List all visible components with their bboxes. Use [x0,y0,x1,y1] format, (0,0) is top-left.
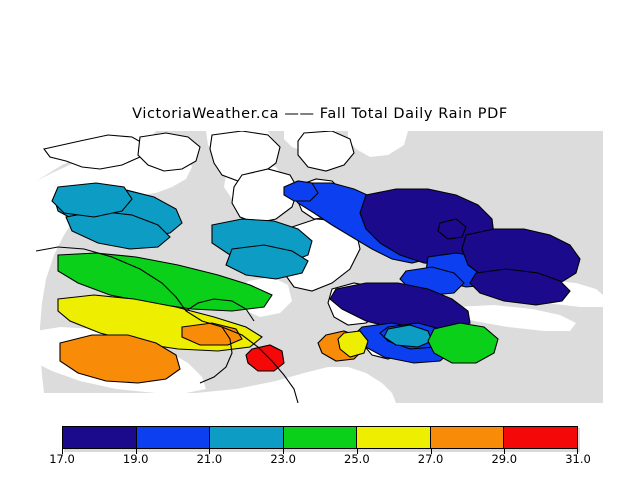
map-panel [36,131,603,403]
colorbar-segment-23.0-25.0[interactable] [284,427,358,448]
colorbar-segment-29.0-31.0[interactable] [504,427,577,448]
colorbar-segment-19.0-21.0[interactable] [137,427,211,448]
colorbar-tick-labels: 17.019.021.023.025.027.029.031.0 [62,452,578,466]
region-central-peninsula-north [52,183,132,217]
colorbar-segment-21.0-23.0[interactable] [210,427,284,448]
page-title: VictoriaWeather.ca —— Fall Total Daily R… [0,106,640,122]
colorbar-strip[interactable] [62,426,578,449]
colorbar-tick-label-23.0: 23.0 [270,452,296,466]
colorbar-segment-17.0-19.0[interactable] [63,427,137,448]
colorbar-segment-27.0-29.0[interactable] [431,427,505,448]
colorbar-caption: 95th percentile of daily rain (mm/day) o… [0,468,640,480]
map-svg [36,131,603,403]
colorbar-tick-label-25.0: 25.0 [344,452,370,466]
colorbar-tick-label-27.0: 27.0 [418,452,444,466]
colorbar-tick-label-31.0: 31.0 [565,452,591,466]
colorbar: 17.019.021.023.025.027.029.031.0 95th pe… [0,418,640,480]
colorbar-segment-25.0-27.0[interactable] [357,427,431,448]
colorbar-tick-label-19.0: 19.0 [123,452,149,466]
weather-map-page: VictoriaWeather.ca —— Fall Total Daily R… [0,0,640,480]
colorbar-tick-label-21.0: 21.0 [197,452,223,466]
colorbar-tick-label-17.0: 17.0 [49,452,75,466]
colorbar-tick-label-29.0: 29.0 [491,452,517,466]
